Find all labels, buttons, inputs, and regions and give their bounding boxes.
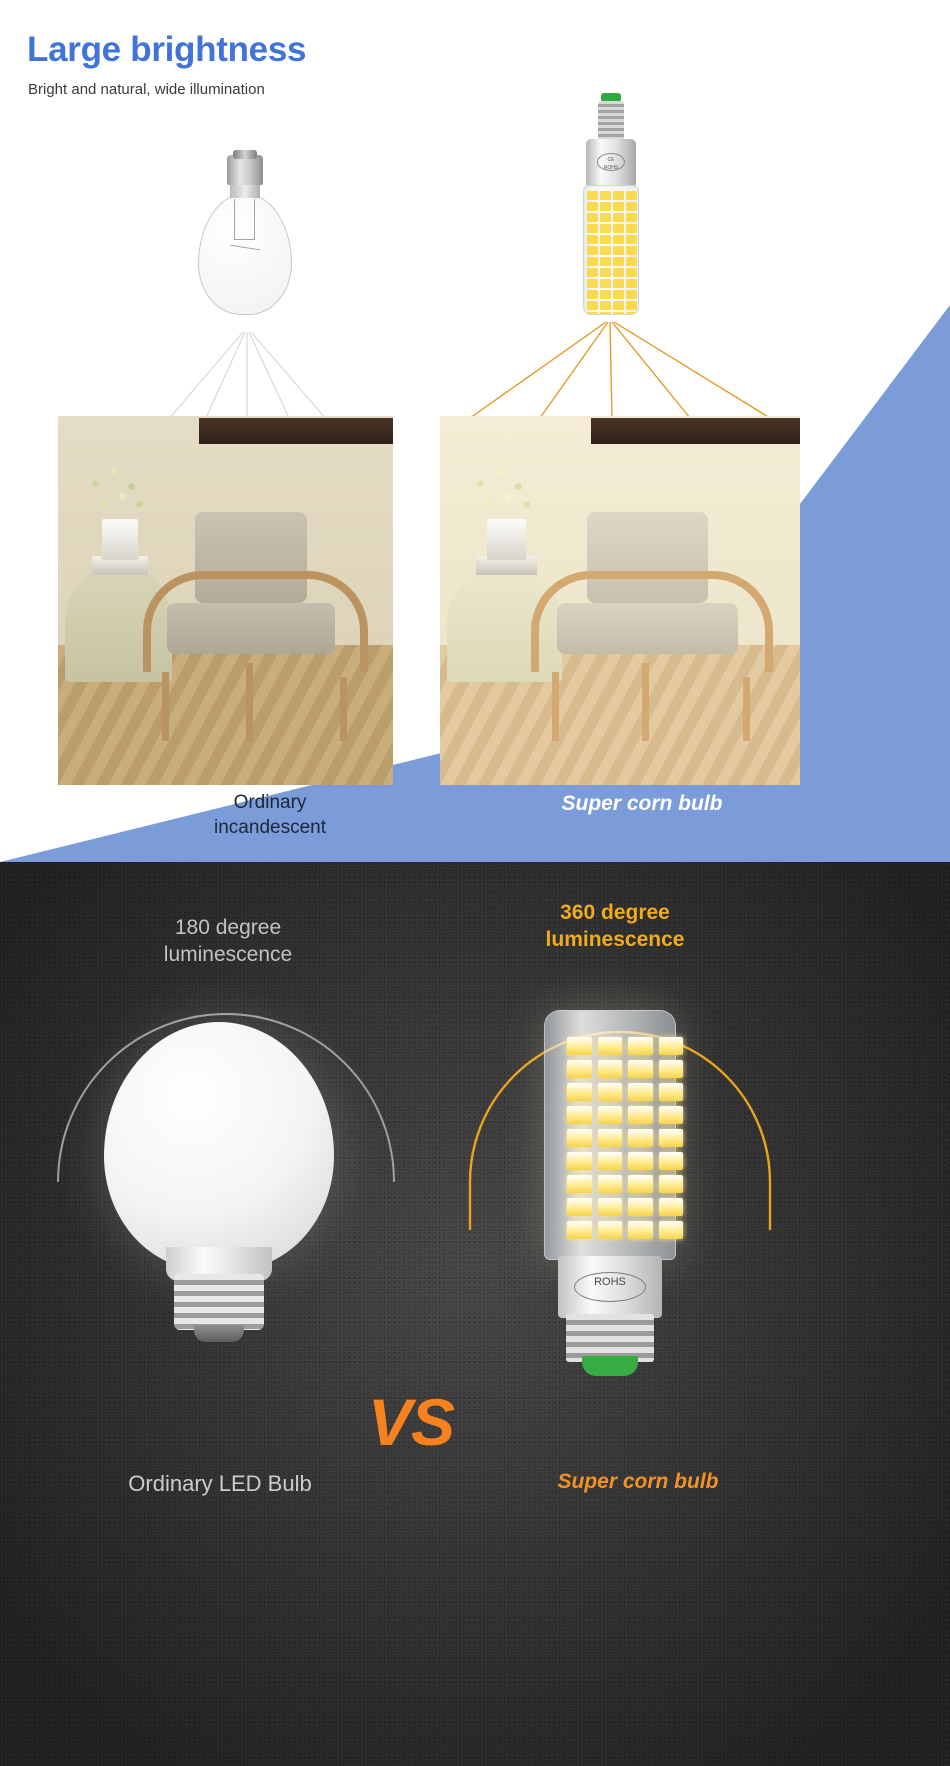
rohs-badge-icon: ROHS (574, 1272, 646, 1302)
label-ordinary-led-bulb: Ordinary LED Bulb (80, 1471, 360, 1497)
corn-bulb-cover (544, 1010, 676, 1260)
chair-leg (552, 672, 559, 741)
label-180-line1: 180 degree (118, 915, 338, 942)
incandescent-bulb-icon (185, 155, 305, 330)
chair-leg (743, 677, 750, 741)
label-super-corn-bulb: Super corn bulb (488, 1470, 788, 1494)
chair-armrest (531, 571, 773, 672)
photo-chair (138, 512, 373, 741)
corn-bulb-led-array (567, 1037, 683, 1251)
photo-chair (526, 512, 778, 741)
top-comparison-section: Large brightness Bright and natural, wid… (0, 0, 950, 862)
corn-bulb-led-grid (587, 191, 637, 309)
chair-leg (340, 677, 347, 741)
label-360-line1: 360 degree (500, 900, 730, 927)
caption-super-corn-bulb: Super corn bulb (512, 792, 772, 816)
led-bulb-contact-tip (194, 1325, 244, 1342)
ce-label: CE (608, 157, 615, 163)
chair-leg (162, 672, 169, 741)
photo-ceiling-beam (591, 418, 800, 444)
chair-leg (246, 663, 253, 741)
label-360-degree: 360 degree luminescence (500, 900, 730, 954)
corn-led-bulb-icon: CE ROHS (565, 93, 657, 321)
caption-ordinary-line1: Ordinary (160, 790, 380, 815)
chair-armrest (143, 571, 368, 672)
ce-rohs-badge-icon: CE ROHS (597, 153, 625, 171)
filament-icon (229, 199, 261, 259)
label-180-degree: 180 degree luminescence (118, 915, 338, 969)
chair-leg (642, 663, 649, 741)
incandescent-screw-cap (227, 155, 263, 185)
rohs-label: ROHS (604, 165, 618, 171)
ordinary-led-bulb-image (104, 1022, 334, 1342)
vs-label: VS (368, 1384, 454, 1460)
caption-ordinary-line2: incandescent (160, 815, 380, 840)
corn-bulb-screw-thread (598, 101, 624, 141)
room-photo-super-corn (440, 416, 800, 785)
corn-bulb-green-tip (582, 1356, 638, 1376)
photo-ceiling-beam (199, 418, 393, 444)
room-photo-ordinary (58, 416, 393, 785)
caption-ordinary-incandescent: Ordinary incandescent (160, 790, 380, 840)
label-180-line2: luminescence (118, 942, 338, 969)
led-bulb-screw-base (174, 1274, 264, 1330)
corn-bulb-screw-base (566, 1314, 654, 1362)
led-bulb-diffuser (104, 1022, 334, 1270)
bottom-vs-section: 180 degree luminescence 360 degree lumin… (0, 862, 950, 1766)
super-corn-bulb-image: ROHS (530, 1010, 690, 1358)
page-subtitle: Bright and natural, wide illumination (28, 81, 265, 98)
corn-bulb-body (583, 185, 639, 315)
label-360-line2: luminescence (500, 927, 730, 954)
page-title: Large brightness (27, 30, 306, 70)
